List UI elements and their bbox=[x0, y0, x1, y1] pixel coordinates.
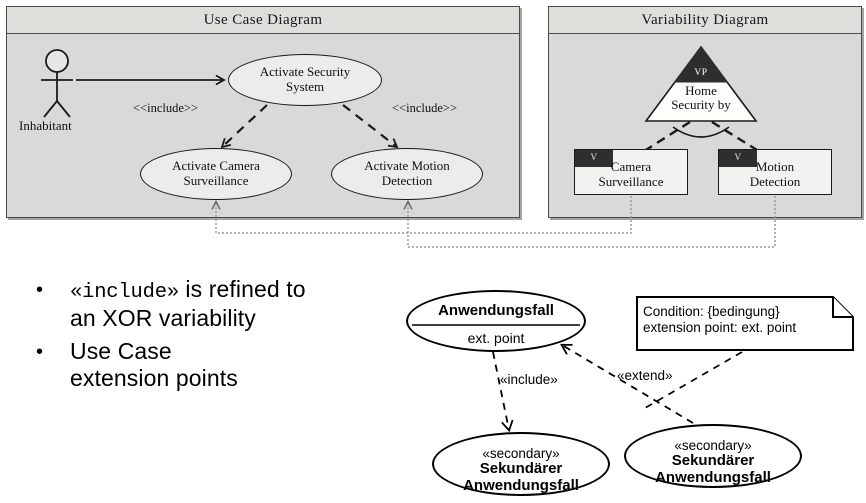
uc-acs-line1: Activate Camera bbox=[172, 158, 260, 173]
bullet-1-line2: an XOR variability bbox=[70, 305, 256, 331]
actor-label: Inhabitant bbox=[19, 118, 72, 134]
bullet-2-text: Use Case bbox=[70, 338, 172, 364]
variant-motion-line1: Motion bbox=[756, 159, 794, 174]
bullet-marker-1: • bbox=[36, 277, 43, 303]
secondary-right-label: «secondary» Sekundärer Anwendungsfall bbox=[624, 438, 802, 487]
variant-motion-line2: Detection bbox=[750, 174, 801, 189]
variant-motion-detection[interactable]: V Motion Detection bbox=[718, 149, 832, 195]
bullet-marker-2: • bbox=[36, 339, 43, 365]
note-line1: Condition: {bedingung} bbox=[643, 304, 796, 320]
variant-label-camera: Camera Surveillance bbox=[575, 160, 687, 190]
secondary-right-line2: Anwendungsfall bbox=[624, 470, 802, 487]
use-case-activate-camera-surveillance[interactable]: Activate Camera Surveillance bbox=[140, 148, 292, 200]
variation-point-label: Home Security by bbox=[641, 84, 761, 113]
secondary-left-stereotype: «secondary» bbox=[432, 446, 610, 461]
bullet-2-line2: extension points bbox=[70, 365, 238, 391]
use-case-activate-security-system[interactable]: Activate Security System bbox=[228, 54, 382, 106]
anwendungsfall-name: Anwendungsfall bbox=[406, 302, 586, 319]
uc-amd-line1: Activate Motion bbox=[364, 158, 450, 173]
anwendungsfall-ext-point: ext. point bbox=[406, 330, 586, 346]
include-relationship-label: «include» bbox=[500, 372, 558, 387]
secondary-left-line1: Sekundärer bbox=[432, 461, 610, 478]
bullet-1-mono: «include» bbox=[70, 281, 179, 304]
uc-ass-line2: System bbox=[286, 79, 324, 94]
bullet-list: • «include» is refined to an XOR variabi… bbox=[14, 276, 406, 398]
note-text: Condition: {bedingung} extension point: … bbox=[643, 304, 796, 336]
bullet-item-1: • «include» is refined to an XOR variabi… bbox=[14, 276, 406, 332]
vp-line2: Security by bbox=[671, 97, 731, 112]
secondary-right-stereotype: «secondary» bbox=[624, 438, 802, 453]
bullet-1-text: is refined to bbox=[179, 276, 306, 302]
uc-ass-line1: Activate Security bbox=[260, 64, 351, 79]
bullet-item-2: • Use Case extension points bbox=[14, 338, 406, 392]
use-case-activate-motion-detection[interactable]: Activate Motion Detection bbox=[331, 148, 483, 200]
note-line2: extension point: ext. point bbox=[643, 320, 796, 336]
include-label-left: <<include>> bbox=[133, 101, 198, 116]
vp-line1: Home bbox=[685, 83, 717, 98]
secondary-left-line2: Anwendungsfall bbox=[432, 478, 610, 495]
variant-camera-surveillance[interactable]: V Camera Surveillance bbox=[574, 149, 688, 195]
uc-amd-line2: Detection bbox=[382, 173, 433, 188]
variation-point-tag: VP bbox=[686, 68, 716, 78]
use-case-diagram-title: Use Case Diagram bbox=[7, 7, 519, 34]
variant-camera-line2: Surveillance bbox=[599, 174, 664, 189]
secondary-right-line1: Sekundärer bbox=[624, 453, 802, 470]
variability-diagram-title: Variability Diagram bbox=[549, 7, 861, 34]
variant-camera-line1: Camera bbox=[611, 159, 651, 174]
extend-relationship-label: «extend» bbox=[617, 368, 673, 383]
include-label-right: <<include>> bbox=[392, 101, 457, 116]
uc-acs-line2: Surveillance bbox=[184, 173, 249, 188]
variant-label-motion: Motion Detection bbox=[719, 160, 831, 190]
secondary-left-label: «secondary» Sekundärer Anwendungsfall bbox=[432, 446, 610, 495]
